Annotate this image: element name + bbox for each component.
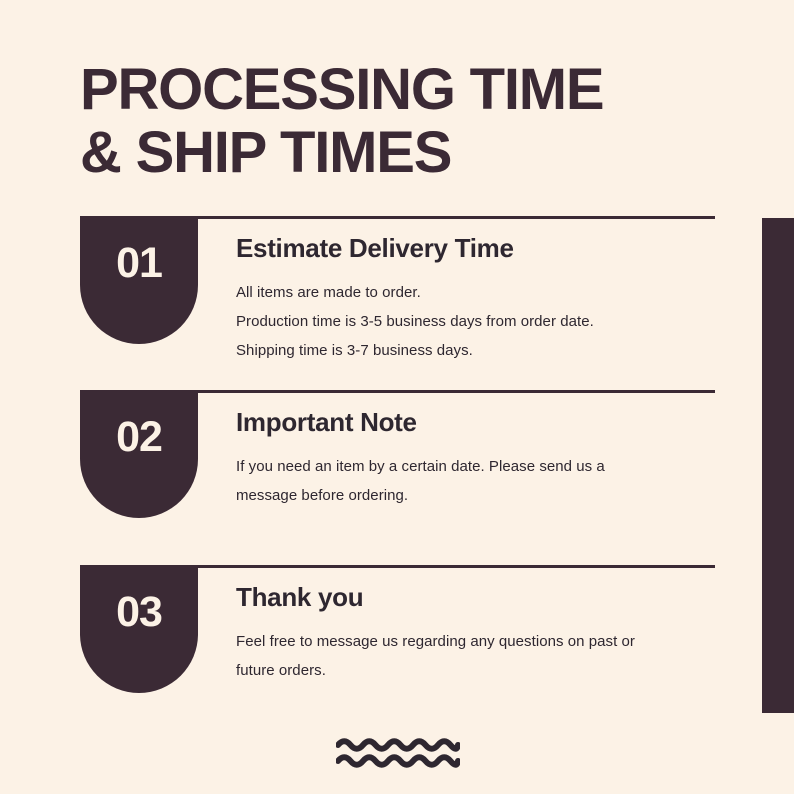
section-content: Estimate Delivery Time All items are mad… bbox=[236, 234, 736, 366]
section-line: Production time is 3-5 business days fro… bbox=[236, 307, 736, 336]
section-item: 01 Estimate Delivery Time All items are … bbox=[0, 212, 794, 387]
page-title: PROCESSING TIME & SHIP TIMES bbox=[80, 58, 720, 184]
section-content: Thank you Feel free to message us regard… bbox=[236, 583, 736, 685]
section-number: 03 bbox=[116, 591, 162, 634]
section-number: 02 bbox=[116, 416, 162, 459]
section-content: Important Note If you need an item by a … bbox=[236, 408, 736, 510]
section-item: 03 Thank you Feel free to message us reg… bbox=[0, 561, 794, 736]
section-line: If you need an item by a certain date. P… bbox=[236, 452, 736, 481]
section-number-badge: 03 bbox=[80, 565, 198, 693]
section-divider bbox=[197, 390, 715, 393]
section-heading: Thank you bbox=[236, 583, 736, 613]
section-heading: Estimate Delivery Time bbox=[236, 234, 736, 264]
wavy-lines-icon bbox=[336, 736, 460, 770]
section-line: future orders. bbox=[236, 656, 736, 685]
section-line: message before ordering. bbox=[236, 481, 736, 510]
section-number-badge: 02 bbox=[80, 390, 198, 518]
section-number-badge: 01 bbox=[80, 216, 198, 344]
section-number: 01 bbox=[116, 242, 162, 285]
section-line: Shipping time is 3-7 business days. bbox=[236, 336, 736, 365]
section-lines: All items are made to order. Production … bbox=[236, 278, 736, 366]
section-divider bbox=[197, 216, 715, 219]
section-lines: If you need an item by a certain date. P… bbox=[236, 452, 736, 511]
poster-canvas: PROCESSING TIME & SHIP TIMES 01 Estimate… bbox=[0, 0, 794, 794]
section-lines: Feel free to message us regarding any qu… bbox=[236, 627, 736, 686]
section-line: All items are made to order. bbox=[236, 278, 736, 307]
section-item: 02 Important Note If you need an item by… bbox=[0, 386, 794, 561]
section-heading: Important Note bbox=[236, 408, 736, 438]
section-divider bbox=[197, 565, 715, 568]
section-line: Feel free to message us regarding any qu… bbox=[236, 627, 736, 656]
